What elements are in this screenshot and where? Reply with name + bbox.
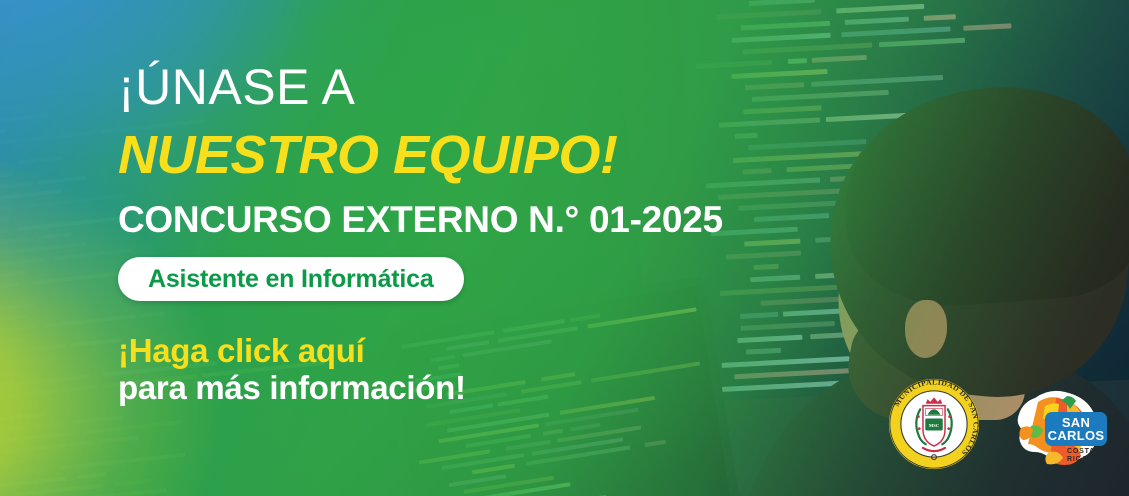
city-logo-subtitle-line-1: COSTA <box>1067 448 1113 456</box>
contest-number-label: CONCURSO EXTERNO N.° 01-2025 <box>118 201 723 238</box>
san-carlos-city-logo: SAN CARLOS COSTA RICA <box>1005 382 1113 474</box>
city-logo-subtitle: COSTA RICA <box>1067 448 1113 464</box>
role-pill-badge[interactable]: Asistente en Informática <box>118 257 464 301</box>
role-pill-label: Asistente en Informática <box>148 265 434 294</box>
city-logo-title-line-2: CARLOS <box>1048 429 1105 442</box>
recruitment-banner[interactable]: ¡ÚNASE A NUESTRO EQUIPO! CONCURSO EXTERN… <box>0 0 1129 496</box>
headline-line-1: ¡ÚNASE A <box>118 62 355 112</box>
banner-content: ¡ÚNASE A NUESTRO EQUIPO! CONCURSO EXTERN… <box>0 0 1129 496</box>
san-carlos-wordmark-box: SAN CARLOS <box>1045 412 1107 446</box>
logo-group: MUNICIPALIDAD DE SAN CARLOS MSC <box>880 370 1120 485</box>
cta-line-1: ¡Haga click aquí <box>118 333 466 370</box>
call-to-action-block[interactable]: ¡Haga click aquí para más información! <box>118 333 466 407</box>
city-logo-subtitle-line-2: RICA <box>1067 456 1113 464</box>
headline-line-2: NUESTRO EQUIPO! <box>118 128 618 182</box>
cta-line-2: para más información! <box>118 370 466 407</box>
svg-text:MSC: MSC <box>929 423 939 428</box>
municipal-seal-icon: MUNICIPALIDAD DE SAN CARLOS MSC <box>888 378 980 470</box>
